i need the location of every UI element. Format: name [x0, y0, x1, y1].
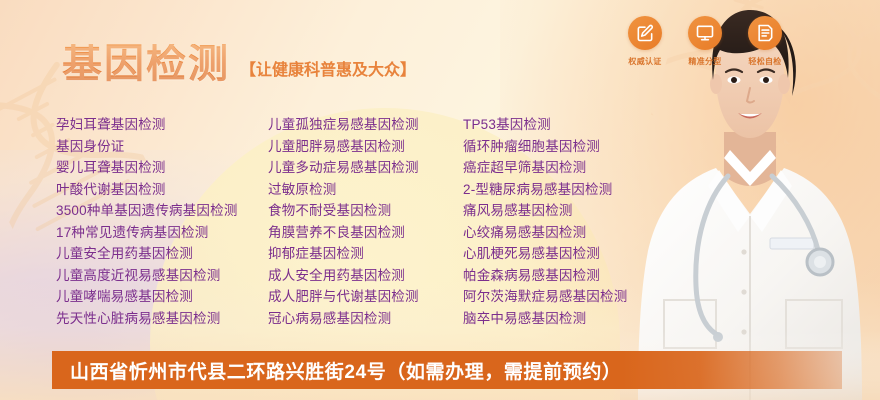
list-item[interactable]: 儿童肥胖易感基因检测	[268, 136, 463, 158]
address-text: 山西省忻州市代县二环路兴胜街24号（如需办理，需提前预约）	[52, 357, 622, 384]
document-icon	[748, 16, 782, 50]
monitor-icon	[688, 16, 722, 50]
list-item[interactable]: 帕金森病易感基因检测	[463, 265, 683, 287]
list-item[interactable]: 食物不耐受基因检测	[268, 200, 463, 222]
list-item[interactable]: 成人肥胖与代谢基因检测	[268, 286, 463, 308]
list-item[interactable]: 痛风易感基因检测	[463, 200, 683, 222]
badge-label: 轻松自检	[748, 56, 781, 67]
list-item[interactable]: 抑郁症基因检测	[268, 243, 463, 265]
test-items-column-3: TP53基因检测 循环肿瘤细胞基因检测 癌症超早筛基因检测 2-型糖尿病易感基因…	[463, 114, 683, 329]
feature-badges: 权威认证 精准分型 轻松自检	[622, 16, 788, 67]
list-item[interactable]: 癌症超早筛基因检测	[463, 157, 683, 179]
list-item[interactable]: 基因身份证	[56, 136, 268, 158]
list-item[interactable]: 冠心病易感基因检测	[268, 308, 463, 330]
list-item[interactable]: 心绞痛易感基因检测	[463, 222, 683, 244]
list-item[interactable]: TP53基因检测	[463, 114, 683, 136]
badge-authoritative-certification[interactable]: 权威认证	[622, 16, 668, 67]
address-bar: 山西省忻州市代县二环路兴胜街24号（如需办理，需提前预约）	[52, 351, 842, 389]
list-item[interactable]: 脑卒中易感基因检测	[463, 308, 683, 330]
test-items-list: 孕妇耳聋基因检测 基因身份证 婴儿耳聋基因检测 叶酸代谢基因检测 3500种单基…	[56, 114, 696, 329]
edit-square-icon	[628, 16, 662, 50]
list-item[interactable]: 先天性心脏病易感基因检测	[56, 308, 268, 330]
badge-precise-typing[interactable]: 精准分型	[682, 16, 728, 67]
list-item[interactable]: 儿童高度近视易感基因检测	[56, 265, 268, 287]
list-item[interactable]: 2-型糖尿病易感基因检测	[463, 179, 683, 201]
list-item[interactable]: 叶酸代谢基因检测	[56, 179, 268, 201]
page-title: 基因检测	[62, 44, 230, 84]
list-item[interactable]: 17种常见遗传病基因检测	[56, 222, 268, 244]
title-block: 基因检测 【让健康科普惠及大众】	[62, 44, 416, 84]
list-item[interactable]: 角膜营养不良基因检测	[268, 222, 463, 244]
list-item[interactable]: 成人安全用药基因检测	[268, 265, 463, 287]
badge-easy-self-check[interactable]: 轻松自检	[742, 16, 788, 67]
test-items-column-1: 孕妇耳聋基因检测 基因身份证 婴儿耳聋基因检测 叶酸代谢基因检测 3500种单基…	[56, 114, 268, 329]
list-item[interactable]: 婴儿耳聋基因检测	[56, 157, 268, 179]
list-item[interactable]: 儿童多动症易感基因检测	[268, 157, 463, 179]
list-item[interactable]: 儿童孤独症易感基因检测	[268, 114, 463, 136]
list-item[interactable]: 心肌梗死易感基因检测	[463, 243, 683, 265]
list-item[interactable]: 循环肿瘤细胞基因检测	[463, 136, 683, 158]
gene-testing-promo-banner: 基因检测 【让健康科普惠及大众】 权威认证 精准分型	[0, 0, 880, 400]
badge-label: 权威认证	[628, 56, 661, 67]
list-item[interactable]: 儿童安全用药基因检测	[56, 243, 268, 265]
list-item[interactable]: 孕妇耳聋基因检测	[56, 114, 268, 136]
page-subtitle: 【让健康科普惠及大众】	[240, 56, 416, 84]
test-items-column-2: 儿童孤独症易感基因检测 儿童肥胖易感基因检测 儿童多动症易感基因检测 过敏原检测…	[268, 114, 463, 329]
list-item[interactable]: 儿童哮喘易感基因检测	[56, 286, 268, 308]
list-item[interactable]: 过敏原检测	[268, 179, 463, 201]
badge-label: 精准分型	[688, 56, 721, 67]
list-item[interactable]: 阿尔茨海默症易感基因检测	[463, 286, 683, 308]
list-item[interactable]: 3500种单基因遗传病基因检测	[56, 200, 268, 222]
